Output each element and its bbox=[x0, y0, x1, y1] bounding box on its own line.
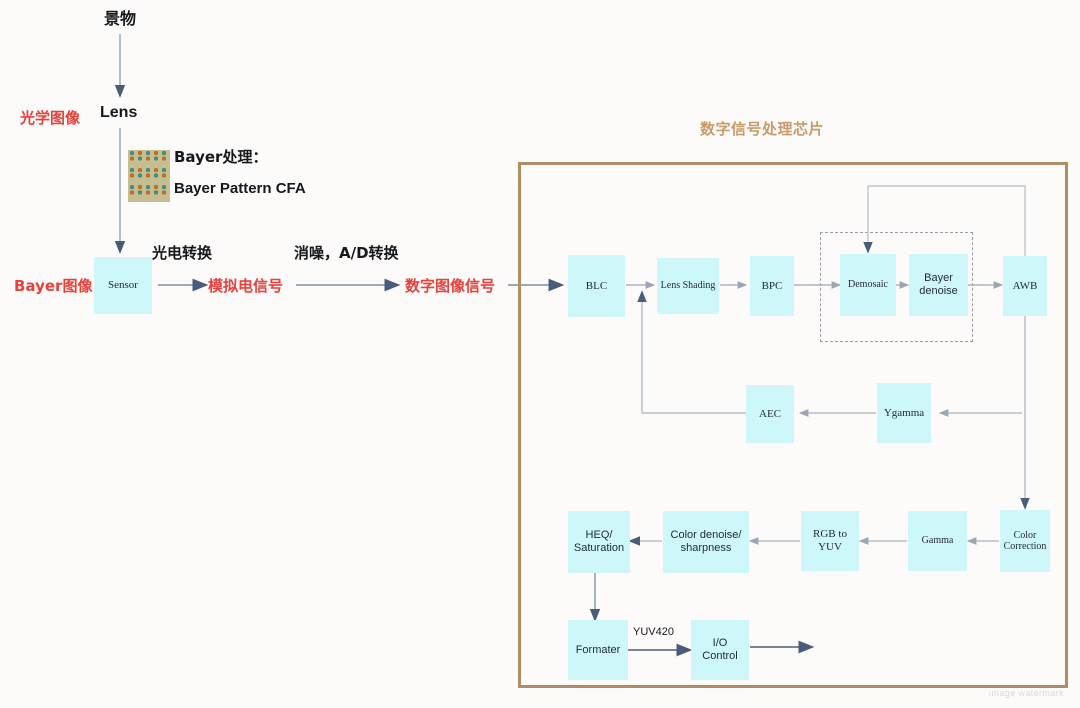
node-aec[interactable]: AEC bbox=[746, 385, 794, 443]
digital-signal-label: 数字图像信号 bbox=[405, 275, 495, 296]
lens-label: Lens bbox=[100, 104, 137, 122]
analog-signal-label: 模拟电信号 bbox=[208, 275, 283, 296]
node-rgb-to-yuv-line2: YUV bbox=[816, 541, 844, 554]
node-color-denoise-sharpness[interactable]: Color denoise/ sharpness bbox=[663, 511, 749, 573]
node-formater-label: Formater bbox=[574, 644, 623, 657]
node-io-control[interactable]: I/O Control bbox=[691, 620, 749, 680]
node-awb-label: AWB bbox=[1011, 280, 1040, 293]
node-bpc[interactable]: BPC bbox=[750, 256, 794, 316]
node-formater[interactable]: Formater bbox=[568, 620, 628, 680]
denoise-ad-conversion-label: 消噪，A/D转换 bbox=[294, 242, 399, 263]
edge-label-yuv420: YUV420 bbox=[633, 626, 674, 638]
diagram-canvas: 数字信号处理芯片 bbox=[0, 0, 1080, 708]
dsp-chip-title: 数字信号处理芯片 bbox=[700, 118, 824, 139]
node-bpc-label: BPC bbox=[760, 280, 785, 293]
bayer-image-label: Bayer图像 bbox=[14, 275, 92, 296]
node-color-correction-line1: Color bbox=[1012, 530, 1039, 542]
bayer-cfa-label: Bayer Pattern CFA bbox=[174, 180, 306, 197]
photoelectric-conversion-label: 光电转换 bbox=[152, 242, 212, 263]
scene-label: 景物 bbox=[104, 5, 136, 29]
node-demosaic-label: Demosaic bbox=[846, 279, 890, 291]
node-heq-saturation[interactable]: HEQ/ Saturation bbox=[568, 511, 630, 573]
node-lens-shading-label: Lens Shading bbox=[659, 280, 718, 292]
node-sensor[interactable]: Sensor bbox=[94, 257, 152, 314]
bayer-process-label: Bayer处理： bbox=[174, 146, 267, 167]
node-color-correction-line2: Correction bbox=[1002, 541, 1049, 553]
node-bayer-denoise-line2: denoise bbox=[917, 285, 960, 298]
node-color-denoise-line2: sharpness bbox=[679, 542, 734, 555]
bayer-pattern-swatch-icon bbox=[128, 150, 170, 202]
node-aec-label: AEC bbox=[757, 408, 783, 421]
node-rgb-to-yuv-line1: RGB to bbox=[811, 528, 849, 541]
node-io-control-line1: I/O bbox=[711, 637, 730, 650]
node-blc-label: BLC bbox=[584, 280, 609, 293]
node-lens-shading[interactable]: Lens Shading bbox=[657, 258, 719, 314]
node-color-denoise-line1: Color denoise/ bbox=[669, 529, 744, 542]
node-heq-saturation-line2: Saturation bbox=[572, 542, 626, 555]
node-bayer-denoise-line1: Bayer bbox=[922, 272, 955, 285]
node-awb[interactable]: AWB bbox=[1003, 256, 1047, 316]
node-gamma[interactable]: Gamma bbox=[908, 511, 967, 571]
node-heq-saturation-line1: HEQ/ bbox=[584, 529, 615, 542]
node-ygamma-label: Ygamma bbox=[882, 407, 926, 420]
optical-image-label: 光学图像 bbox=[20, 107, 80, 128]
node-io-control-line2: Control bbox=[700, 650, 739, 663]
node-color-correction[interactable]: Color Correction bbox=[1000, 510, 1050, 572]
node-ygamma[interactable]: Ygamma bbox=[877, 383, 931, 443]
node-demosaic[interactable]: Demosaic bbox=[840, 254, 896, 316]
node-gamma-label: Gamma bbox=[920, 535, 956, 547]
node-rgb-to-yuv[interactable]: RGB to YUV bbox=[801, 511, 859, 571]
node-blc[interactable]: BLC bbox=[568, 255, 625, 317]
node-sensor-label: Sensor bbox=[106, 279, 140, 292]
node-bayer-denoise[interactable]: Bayer denoise bbox=[909, 254, 968, 316]
watermark-text: image watermark bbox=[989, 688, 1064, 698]
